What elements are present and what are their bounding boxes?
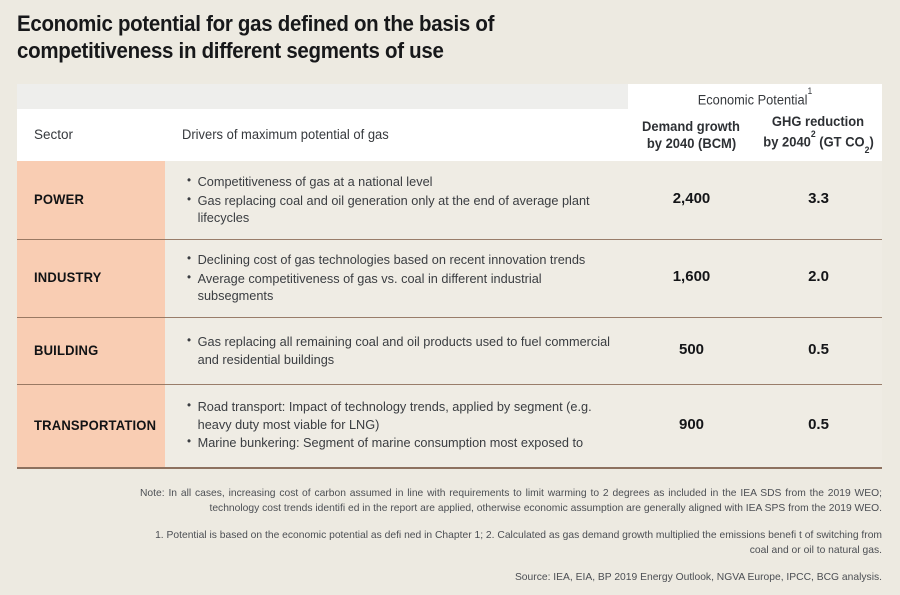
page-title-line-2: competitiveness in different segments of… — [17, 37, 631, 64]
cell-demand-growth: 500 — [628, 341, 755, 358]
column-header-ghg-reduction: GHG reduction by 20402 (GT CO2) — [755, 109, 882, 161]
column-header-demand-growth-line1: Demand growth — [643, 118, 741, 135]
table-row: POWERCompetitiveness of gas at a nationa… — [17, 161, 882, 239]
driver-bullet: Declining cost of gas technologies based… — [187, 251, 612, 269]
row-divider — [17, 467, 882, 469]
row-divider — [17, 239, 882, 240]
drivers-cell: Declining cost of gas technologies based… — [187, 251, 627, 306]
table-row: BUILDINGGas replacing all remaining coal… — [17, 317, 882, 384]
footnote-numbered: 1. Potential is based on the economic po… — [140, 528, 882, 558]
cell-demand-growth: 900 — [628, 416, 755, 433]
column-group-header-economic-potential: Economic Potential1 — [634, 84, 875, 109]
driver-bullet: Gas replacing coal and oil generation on… — [187, 192, 612, 227]
row-divider — [17, 384, 882, 385]
cell-ghg-reduction: 3.3 — [755, 190, 882, 207]
driver-bullet: Competitiveness of gas at a national lev… — [187, 173, 612, 191]
column-header-demand-growth-line2: by 2040 (BCM) — [647, 135, 736, 152]
footnote-source: Source: IEA, EIA, BP 2019 Energy Outlook… — [140, 570, 882, 585]
sector-label: INDUSTRY — [34, 269, 156, 285]
cell-ghg-reduction: 0.5 — [755, 341, 882, 358]
table-row: TRANSPORTATIONRoad transport: Impact of … — [17, 384, 882, 467]
footnotes: Note: In all cases, increasing cost of c… — [140, 486, 882, 585]
column-header-demand-growth: Demand growth by 2040 (BCM) — [628, 109, 755, 161]
cell-ghg-reduction: 2.0 — [755, 268, 882, 285]
sector-label: POWER — [34, 191, 156, 207]
table-row: INDUSTRYDeclining cost of gas technologi… — [17, 239, 882, 317]
column-header-ghg-reduction-line2: by 20402 (GT CO2) — [763, 130, 873, 156]
driver-bullet: Marine bunkering: Segment of marine cons… — [187, 434, 612, 452]
page-title: Economic potential for gas defined on th… — [17, 10, 677, 64]
drivers-cell: Competitiveness of gas at a national lev… — [187, 173, 627, 228]
drivers-cell: Gas replacing all remaining coal and oil… — [187, 333, 627, 369]
driver-bullet: Average competitiveness of gas vs. coal … — [187, 270, 612, 305]
cell-ghg-reduction: 0.5 — [755, 416, 882, 433]
driver-bullet: Gas replacing all remaining coal and oil… — [187, 333, 612, 368]
header-band-left — [17, 84, 628, 109]
cell-demand-growth: 2,400 — [628, 190, 755, 207]
row-divider — [17, 317, 882, 318]
driver-bullet: Road transport: Impact of technology tre… — [187, 398, 612, 433]
sector-label: BUILDING — [34, 342, 156, 358]
sector-label: TRANSPORTATION — [34, 417, 156, 433]
page-title-line-1: Economic potential for gas defined on th… — [17, 10, 631, 37]
drivers-cell: Road transport: Impact of technology tre… — [187, 398, 627, 453]
cell-demand-growth: 1,600 — [628, 268, 755, 285]
slide-canvas: Economic potential for gas defined on th… — [0, 0, 900, 595]
column-header-drivers: Drivers of maximum potential of gas — [182, 109, 604, 161]
column-header-ghg-reduction-line1: GHG reduction — [772, 113, 864, 130]
footnote-note: Note: In all cases, increasing cost of c… — [140, 486, 882, 516]
economic-potential-table: Economic Potential1 Sector Drivers of ma… — [17, 84, 882, 467]
column-header-sector: Sector — [17, 109, 182, 161]
